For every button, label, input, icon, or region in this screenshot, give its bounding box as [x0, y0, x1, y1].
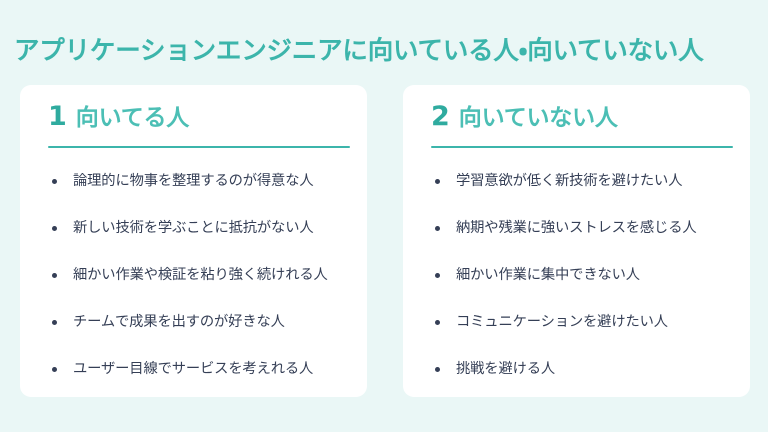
bullet-dot-icon	[435, 179, 440, 184]
card-suited: 1 向いてる人 論理的に物事を整理するのが得意な人 新しい技術を学ぶことに抵抗が…	[20, 85, 367, 397]
bullet-dot-icon	[435, 273, 440, 278]
list-item: 新しい技術を学ぶことに抵抗がない人	[48, 218, 349, 238]
list-item: 細かい作業や検証を粘り強く続けれる人	[48, 265, 349, 285]
list-item-label: 細かい作業に集中できない人	[456, 267, 640, 283]
bullet-dot-icon	[435, 367, 440, 372]
list-item-label: 挑戦を避ける人	[456, 361, 555, 377]
bullet-dot-icon	[52, 179, 57, 184]
bullet-list-not-suited: 学習意欲が低く新技術を避けたい人 納期や残業に強いストレスを感じる人 細かい作業…	[421, 148, 732, 379]
card-container: 1 向いてる人 論理的に物事を整理するのが得意な人 新しい技術を学ぶことに抵抗が…	[20, 85, 750, 397]
card-heading-suited: 向いてる人	[76, 102, 189, 134]
list-item-label: 学習意欲が低く新技術を避けたい人	[456, 173, 682, 189]
card-number-2: 2	[431, 101, 450, 133]
list-item: 納期や残業に強いストレスを感じる人	[431, 218, 732, 238]
list-item-label: 論理的に物事を整理するのが得意な人	[73, 173, 314, 189]
list-item: ユーザー目線でサービスを考えれる人	[48, 359, 349, 379]
list-item-label: 新しい技術を学ぶことに抵抗がない人	[73, 220, 314, 236]
card-heading-not-suited: 向いていない人	[459, 102, 618, 134]
list-item: 論理的に物事を整理するのが得意な人	[48, 171, 349, 191]
bullet-dot-icon	[52, 273, 57, 278]
list-item-label: コミュニケーションを避けたい人	[456, 314, 668, 330]
list-item-label: 納期や残業に強いストレスを感じる人	[456, 220, 697, 236]
bullet-dot-icon	[435, 226, 440, 231]
list-item: 細かい作業に集中できない人	[431, 265, 732, 285]
card-not-suited: 2 向いていない人 学習意欲が低く新技術を避けたい人 納期や残業に強いストレスを…	[403, 85, 750, 397]
card-header-suited: 1 向いてる人	[38, 101, 349, 137]
bullet-dot-icon	[52, 320, 57, 325]
bullet-dot-icon	[52, 367, 57, 372]
list-item: コミュニケーションを避けたい人	[431, 312, 732, 332]
card-header-not-suited: 2 向いていない人	[421, 101, 732, 137]
slide-root: アプリケーションエンジニアに向いている人・向いていない人 1 向いてる人 論理的…	[0, 0, 768, 432]
list-item: 挑戦を避ける人	[431, 359, 732, 379]
page-title: アプリケーションエンジニアに向いている人・向いていない人	[14, 34, 759, 68]
list-item-label: 細かい作業や検証を粘り強く続けれる人	[73, 267, 328, 283]
bullet-dot-icon	[52, 226, 57, 231]
bullet-list-suited: 論理的に物事を整理するのが得意な人 新しい技術を学ぶことに抵抗がない人 細かい作…	[38, 148, 349, 379]
list-item-label: チームで成果を出すのが好きな人	[73, 314, 285, 330]
list-item: チームで成果を出すのが好きな人	[48, 312, 349, 332]
list-item: 学習意欲が低く新技術を避けたい人	[431, 171, 732, 191]
list-item-label: ユーザー目線でサービスを考えれる人	[73, 361, 313, 377]
card-number-1: 1	[48, 101, 67, 133]
bullet-dot-icon	[435, 320, 440, 325]
